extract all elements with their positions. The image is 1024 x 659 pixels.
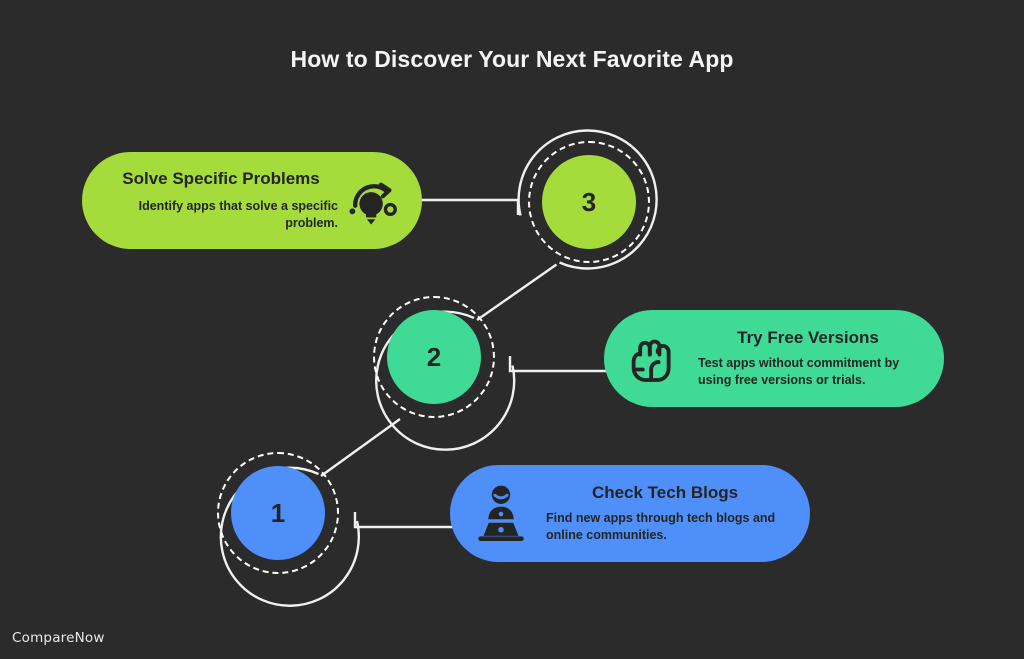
- step-node-2[interactable]: 2: [356, 279, 512, 435]
- person-at-laptop-icon: [472, 483, 530, 545]
- step-card-1-text: Check Tech Blogs Find new apps through t…: [546, 483, 784, 544]
- step-card-2-description: Test apps without commitment by using fr…: [698, 355, 918, 389]
- step-card-2[interactable]: Try Free Versions Test apps without comm…: [604, 310, 944, 407]
- step-card-3-text: Solve Specific Problems Identify apps th…: [104, 169, 338, 232]
- step-node-1[interactable]: 1: [200, 435, 356, 591]
- step-card-3-description: Identify apps that solve a specific prob…: [104, 198, 338, 232]
- node-number-1: 1: [231, 466, 325, 560]
- step-card-1-description: Find new apps through tech blogs and onl…: [546, 510, 784, 544]
- lightbulb-arrow-icon: [340, 168, 406, 234]
- step-card-1[interactable]: Check Tech Blogs Find new apps through t…: [450, 465, 810, 562]
- step-card-1-title: Check Tech Blogs: [546, 483, 784, 503]
- raised-fist-icon: [622, 329, 682, 389]
- step-card-3-title: Solve Specific Problems: [104, 169, 338, 189]
- compare-now-watermark: CompareNow: [12, 630, 105, 646]
- step-card-3[interactable]: Solve Specific Problems Identify apps th…: [82, 152, 422, 249]
- node-number-2: 2: [387, 310, 481, 404]
- step-node-3[interactable]: 3: [511, 124, 667, 280]
- node-number-3: 3: [542, 155, 636, 249]
- step-card-2-title: Try Free Versions: [698, 328, 918, 348]
- infographic-canvas: How to Discover Your Next Favorite App 3: [0, 0, 1024, 659]
- step-card-2-text: Try Free Versions Test apps without comm…: [698, 328, 918, 389]
